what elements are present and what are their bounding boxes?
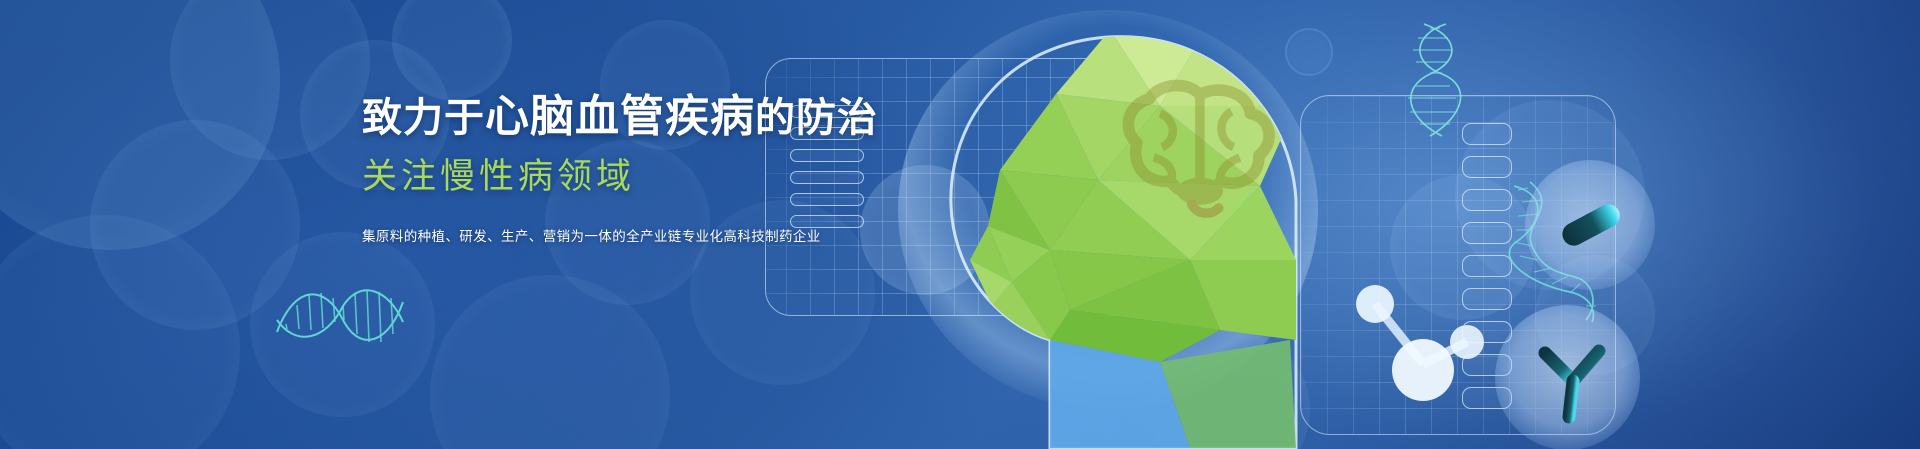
- hud-bar: [1462, 189, 1512, 211]
- hud-bar: [1462, 123, 1512, 145]
- hud-bar: [790, 149, 864, 162]
- low-poly-head-icon: [860, 10, 1320, 449]
- bokeh-circle: [430, 275, 670, 449]
- hud-bar: [1462, 387, 1512, 409]
- hud-top-line: [1300, 95, 1585, 96]
- subtitle: 关注慢性病领域: [362, 148, 792, 199]
- headline-highlight: 心脑血管疾病: [485, 92, 755, 141]
- hud-bar: [1462, 321, 1512, 343]
- dna-icon: [273, 272, 408, 347]
- hud-bar: [1462, 156, 1512, 178]
- hud-bar: [790, 215, 864, 228]
- hud-bar: [1462, 288, 1512, 310]
- hud-bar: [1462, 222, 1512, 244]
- hud-bar: [790, 171, 864, 184]
- bokeh-circle: [392, 0, 512, 100]
- bokeh-circle: [0, 215, 240, 449]
- page-title: 致力于心脑血管疾病的防治: [362, 92, 792, 141]
- headline-part2: 的防治: [755, 96, 878, 140]
- bokeh-circle: [0, 0, 280, 250]
- hud-bar: [790, 193, 864, 206]
- bokeh-circle: [170, 0, 370, 160]
- hud-bar-list-right: [1462, 123, 1512, 409]
- tagline: 集原料的种植、研发、生产、营销为一体的全产业链专业化高科技制药企业: [362, 225, 792, 245]
- hud-panel-right: [1300, 95, 1616, 435]
- bokeh-circle: [250, 232, 435, 417]
- head-graphic: [860, 10, 1320, 449]
- hero-banner: 致力于心脑血管疾病的防治 关注慢性病领域 集原料的种植、研发、生产、营销为一体的…: [0, 0, 1920, 449]
- hud-bar: [1462, 255, 1512, 277]
- text-block: 致力于心脑血管疾病的防治 关注慢性病领域 集原料的种植、研发、生产、营销为一体的…: [362, 92, 792, 245]
- hud-grid: [1301, 96, 1615, 434]
- hud-bar: [1462, 354, 1512, 376]
- bokeh-circle: [90, 120, 300, 330]
- headline-part1: 致力于: [362, 96, 485, 140]
